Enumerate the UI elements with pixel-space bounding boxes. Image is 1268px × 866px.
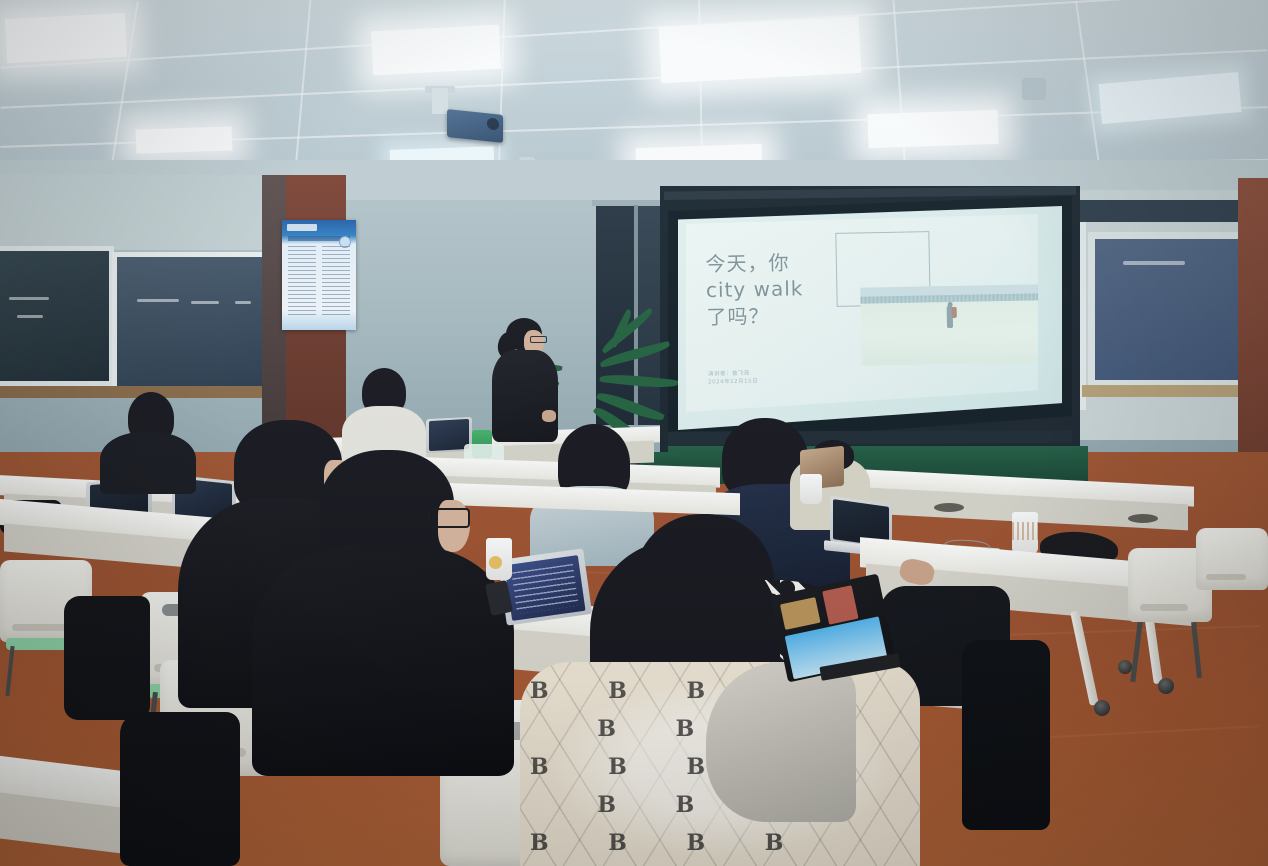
poster-logo [287,224,317,231]
stacking-chair[interactable] [1196,528,1268,638]
wood-column-right [1238,178,1268,468]
glasses-icon [428,508,470,528]
ceiling-light-panel [5,13,127,63]
slide-credit-line-2: 2024年12月15日 [708,377,758,386]
presenter-hand [542,410,556,422]
slide-title-line-2: city walk [706,275,826,304]
window-left-outer [0,246,114,386]
ceiling-light-panel [1099,72,1242,124]
paper-cup-pattern [1012,522,1038,540]
slide-title-line-3: 了吗？ [706,302,826,331]
backpack [962,640,1050,830]
tablet-screen [429,419,469,451]
table-caster [1158,678,1174,694]
slide-photo-walker-backpack [952,307,957,318]
black-hoodie [252,546,514,776]
laptop-sticker [780,597,821,630]
window-sill-right [1082,385,1254,397]
projected-slide: 今天，你 city walk 了吗？ 演讲者：曾飞燕 2024年12月15日 [686,214,1038,412]
table-caster [1094,700,1110,716]
ceiling-speaker [1022,78,1046,100]
slide-credit-line-1: 演讲者：曾飞燕 [708,369,758,378]
wall-notice-poster [282,220,356,330]
slide-title: 今天，你 city walk 了吗？ [705,249,826,330]
slide-photo [860,284,1041,365]
projector-lens-icon [487,117,499,130]
backpack [64,596,150,720]
left-wall-upper [0,175,300,250]
gray-hoodie-sleeve [706,662,856,822]
paper-cup-logo [489,556,502,569]
table-cable-grommet [1128,514,1158,523]
ceiling-light-panel [659,17,862,83]
backpack [120,712,240,866]
slide-credit: 演讲者：曾飞燕 2024年12月15日 [708,369,758,386]
table-cable-grommet [934,503,964,512]
laptop-sticker [822,585,858,624]
chair-caster [1118,660,1132,674]
classroom-presentation-photo: 今天，你 city walk 了吗？ 演讲者：曾飞燕 2024年12月15日 [0,0,1268,866]
window-right-blue [1088,232,1248,387]
slide-title-line-1: 今天，你 [705,249,825,278]
presenter-glasses-icon [530,336,547,343]
ceiling-light-panel [371,25,501,76]
ceiling-light-panel [136,126,233,153]
projector-mount [432,88,448,114]
ceiling-light-panel [867,110,998,149]
attendee-man-glasses [252,450,512,770]
right-window-transom [1080,200,1256,222]
